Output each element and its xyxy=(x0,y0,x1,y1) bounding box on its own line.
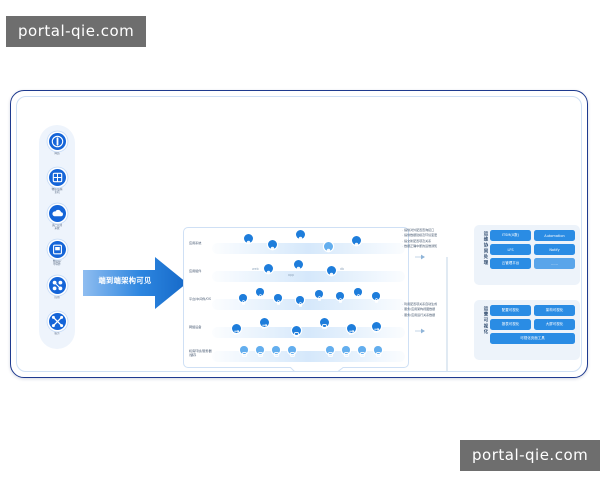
server-node-icon[interactable] xyxy=(256,346,264,354)
note-list-group2: 利用配置项关系自动生成服务/应用架构视图数据服务/应用运行关系数据 xyxy=(402,302,468,318)
sidebar-item-6[interactable]: 服务 xyxy=(39,313,75,335)
lock-node-icon[interactable] xyxy=(239,294,247,302)
server-node-icon[interactable] xyxy=(288,346,296,354)
capability-chip-grid: 配置可视化架构可视化报表可视化大屏可视化可视化页面工具 xyxy=(490,305,575,344)
capability-panel-title: 运维协同处理 xyxy=(478,231,488,266)
server-node-icon[interactable] xyxy=(272,346,280,354)
capability-panel-2: 运营可视化配置可视化架构可视化报表可视化大屏可视化可视化页面工具 xyxy=(474,300,580,360)
capability-chip[interactable]: 可视化页面工具 xyxy=(490,333,575,344)
capability-chip[interactable]: 报表可视化 xyxy=(490,319,531,330)
lock-node-icon[interactable] xyxy=(336,292,344,300)
data-cleaning-stage: 数据清洗 xyxy=(201,371,214,372)
switch-node-icon[interactable] xyxy=(232,324,241,333)
app-node-icon[interactable] xyxy=(296,230,305,239)
sidebar-item-label: 网络 xyxy=(39,152,75,155)
capability-chip[interactable]: ...... xyxy=(534,258,575,269)
capability-chip[interactable]: 云管理平台 xyxy=(490,258,531,269)
capability-chip-grid: ITSM(X数)AutomationLFSNotify云管理平台...... xyxy=(490,230,575,269)
lock-node-icon[interactable] xyxy=(256,288,264,296)
capability-chip[interactable]: 架构可视化 xyxy=(534,305,575,316)
application-icon xyxy=(49,277,66,294)
server-node-icon[interactable] xyxy=(240,346,248,354)
lock-node-icon[interactable] xyxy=(315,290,323,298)
database-icon xyxy=(49,241,66,258)
server-icon xyxy=(49,169,66,186)
lock-node-icon[interactable] xyxy=(274,294,282,302)
sidebar-item-2[interactable]: 物理/虚拟 主机 xyxy=(39,169,75,194)
architecture-row-label: 机房环境/服务器 /储存 xyxy=(189,350,223,358)
capability-panel-1: 运维协同处理ITSM(X数)AutomationLFSNotify云管理平台..… xyxy=(474,225,580,285)
server-node-icon[interactable] xyxy=(374,346,382,354)
lock-node-icon[interactable] xyxy=(372,292,380,300)
switch-node-icon[interactable] xyxy=(372,322,381,331)
capability-panel-title: 运营可视化 xyxy=(478,306,488,335)
sidebar-item-5[interactable]: 应用 xyxy=(39,277,75,299)
capability-chip[interactable]: 配置可视化 xyxy=(490,305,531,316)
app-node-icon[interactable] xyxy=(352,236,361,245)
note-item: 服务/应用运行关系数据 xyxy=(402,313,468,318)
architecture-row-label: 平台/中间件/OS xyxy=(189,298,223,302)
app-node-icon[interactable] xyxy=(268,240,277,249)
sidebar-item-label: 资产管理 系统 xyxy=(39,224,75,231)
sidebar-item-3[interactable]: 资产管理 系统 xyxy=(39,205,75,230)
capability-chip[interactable]: Automation xyxy=(534,230,575,241)
sidebar-item-label: 数据库/ 中间件 xyxy=(39,260,75,267)
app-node-icon[interactable] xyxy=(264,264,273,273)
topology-node-label: db xyxy=(340,267,344,271)
watermark-bottom: portal-qie.com xyxy=(460,440,600,471)
host-node-icon[interactable] xyxy=(320,318,329,327)
note-item: 数据正确中断的运维通知 xyxy=(402,244,468,249)
capability-chip[interactable]: ITSM(X数) xyxy=(490,230,531,241)
lock-node-icon[interactable] xyxy=(296,296,304,304)
sidebar-item-4[interactable]: 数据库/ 中间件 xyxy=(39,241,75,266)
sidebar-item-1[interactable]: 网络 xyxy=(39,133,75,155)
sidebar-item-label: 服务 xyxy=(39,332,75,335)
arrow-label: 端到端架构可见 xyxy=(87,276,163,286)
topology-node-label: app xyxy=(288,273,294,277)
architecture-row-label: 网络设备 xyxy=(189,326,223,330)
sidebar-item-label: 应用 xyxy=(39,296,75,299)
lock-node-icon[interactable] xyxy=(354,288,362,296)
ingestion-method-box-1[interactable]: 数据集成 xyxy=(195,372,233,373)
resource-type-sidebar: 网络物理/虚拟 主机资产管理 系统数据库/ 中间件应用服务 xyxy=(39,125,75,349)
app-node-icon[interactable] xyxy=(327,266,336,275)
switch-node-icon[interactable] xyxy=(347,324,356,333)
watermark-top: portal-qie.com xyxy=(6,16,146,47)
network-icon xyxy=(49,133,66,150)
capability-chip[interactable]: Notify xyxy=(534,244,575,255)
server-node-icon[interactable] xyxy=(326,346,334,354)
architecture-topology-card: 应用系统应用组件平台/中间件/OS网络设备机房环境/服务器 /储存webappd… xyxy=(183,227,409,368)
callout-tail xyxy=(287,366,347,372)
host-node-icon[interactable] xyxy=(292,326,301,335)
app-node-icon[interactable] xyxy=(324,242,333,251)
cloud-icon xyxy=(49,205,66,222)
server-node-icon[interactable] xyxy=(342,346,350,354)
diagram-frame-inner: 网络物理/虚拟 主机资产管理 系统数据库/ 中间件应用服务 端到端架构可见 应用… xyxy=(16,96,582,372)
screenshot-canvas: portal-qie.com portal-qie.com 网络物理/虚拟 主机… xyxy=(0,0,600,480)
architecture-row-label: 应用组件 xyxy=(189,270,223,274)
diagram-frame-outer: 网络物理/虚拟 主机资产管理 系统数据库/ 中间件应用服务 端到端架构可见 应用… xyxy=(10,90,588,378)
capability-chip[interactable]: LFS xyxy=(490,244,531,255)
topology-node-label: web xyxy=(252,267,259,271)
note-list-group1: 提供对外配置查询接口提供数据建模及环境变更提交新配置项及关系数据正确中断的运维通… xyxy=(402,228,468,250)
architecture-row-band xyxy=(212,271,405,282)
architecture-row-band xyxy=(212,243,405,254)
capability-chip[interactable]: 大屏可视化 xyxy=(534,319,575,330)
data-source-box-1[interactable]: 管理流程 (针对数据上报) xyxy=(110,371,150,372)
architecture-row-label: 应用系统 xyxy=(189,242,223,246)
server-node-icon[interactable] xyxy=(358,346,366,354)
sidebar-item-label: 物理/虚拟 主机 xyxy=(39,188,75,195)
service-icon xyxy=(49,313,66,330)
switch-node-icon[interactable] xyxy=(260,318,269,327)
app-node-icon[interactable] xyxy=(244,234,253,243)
app-node-icon[interactable] xyxy=(294,260,303,269)
